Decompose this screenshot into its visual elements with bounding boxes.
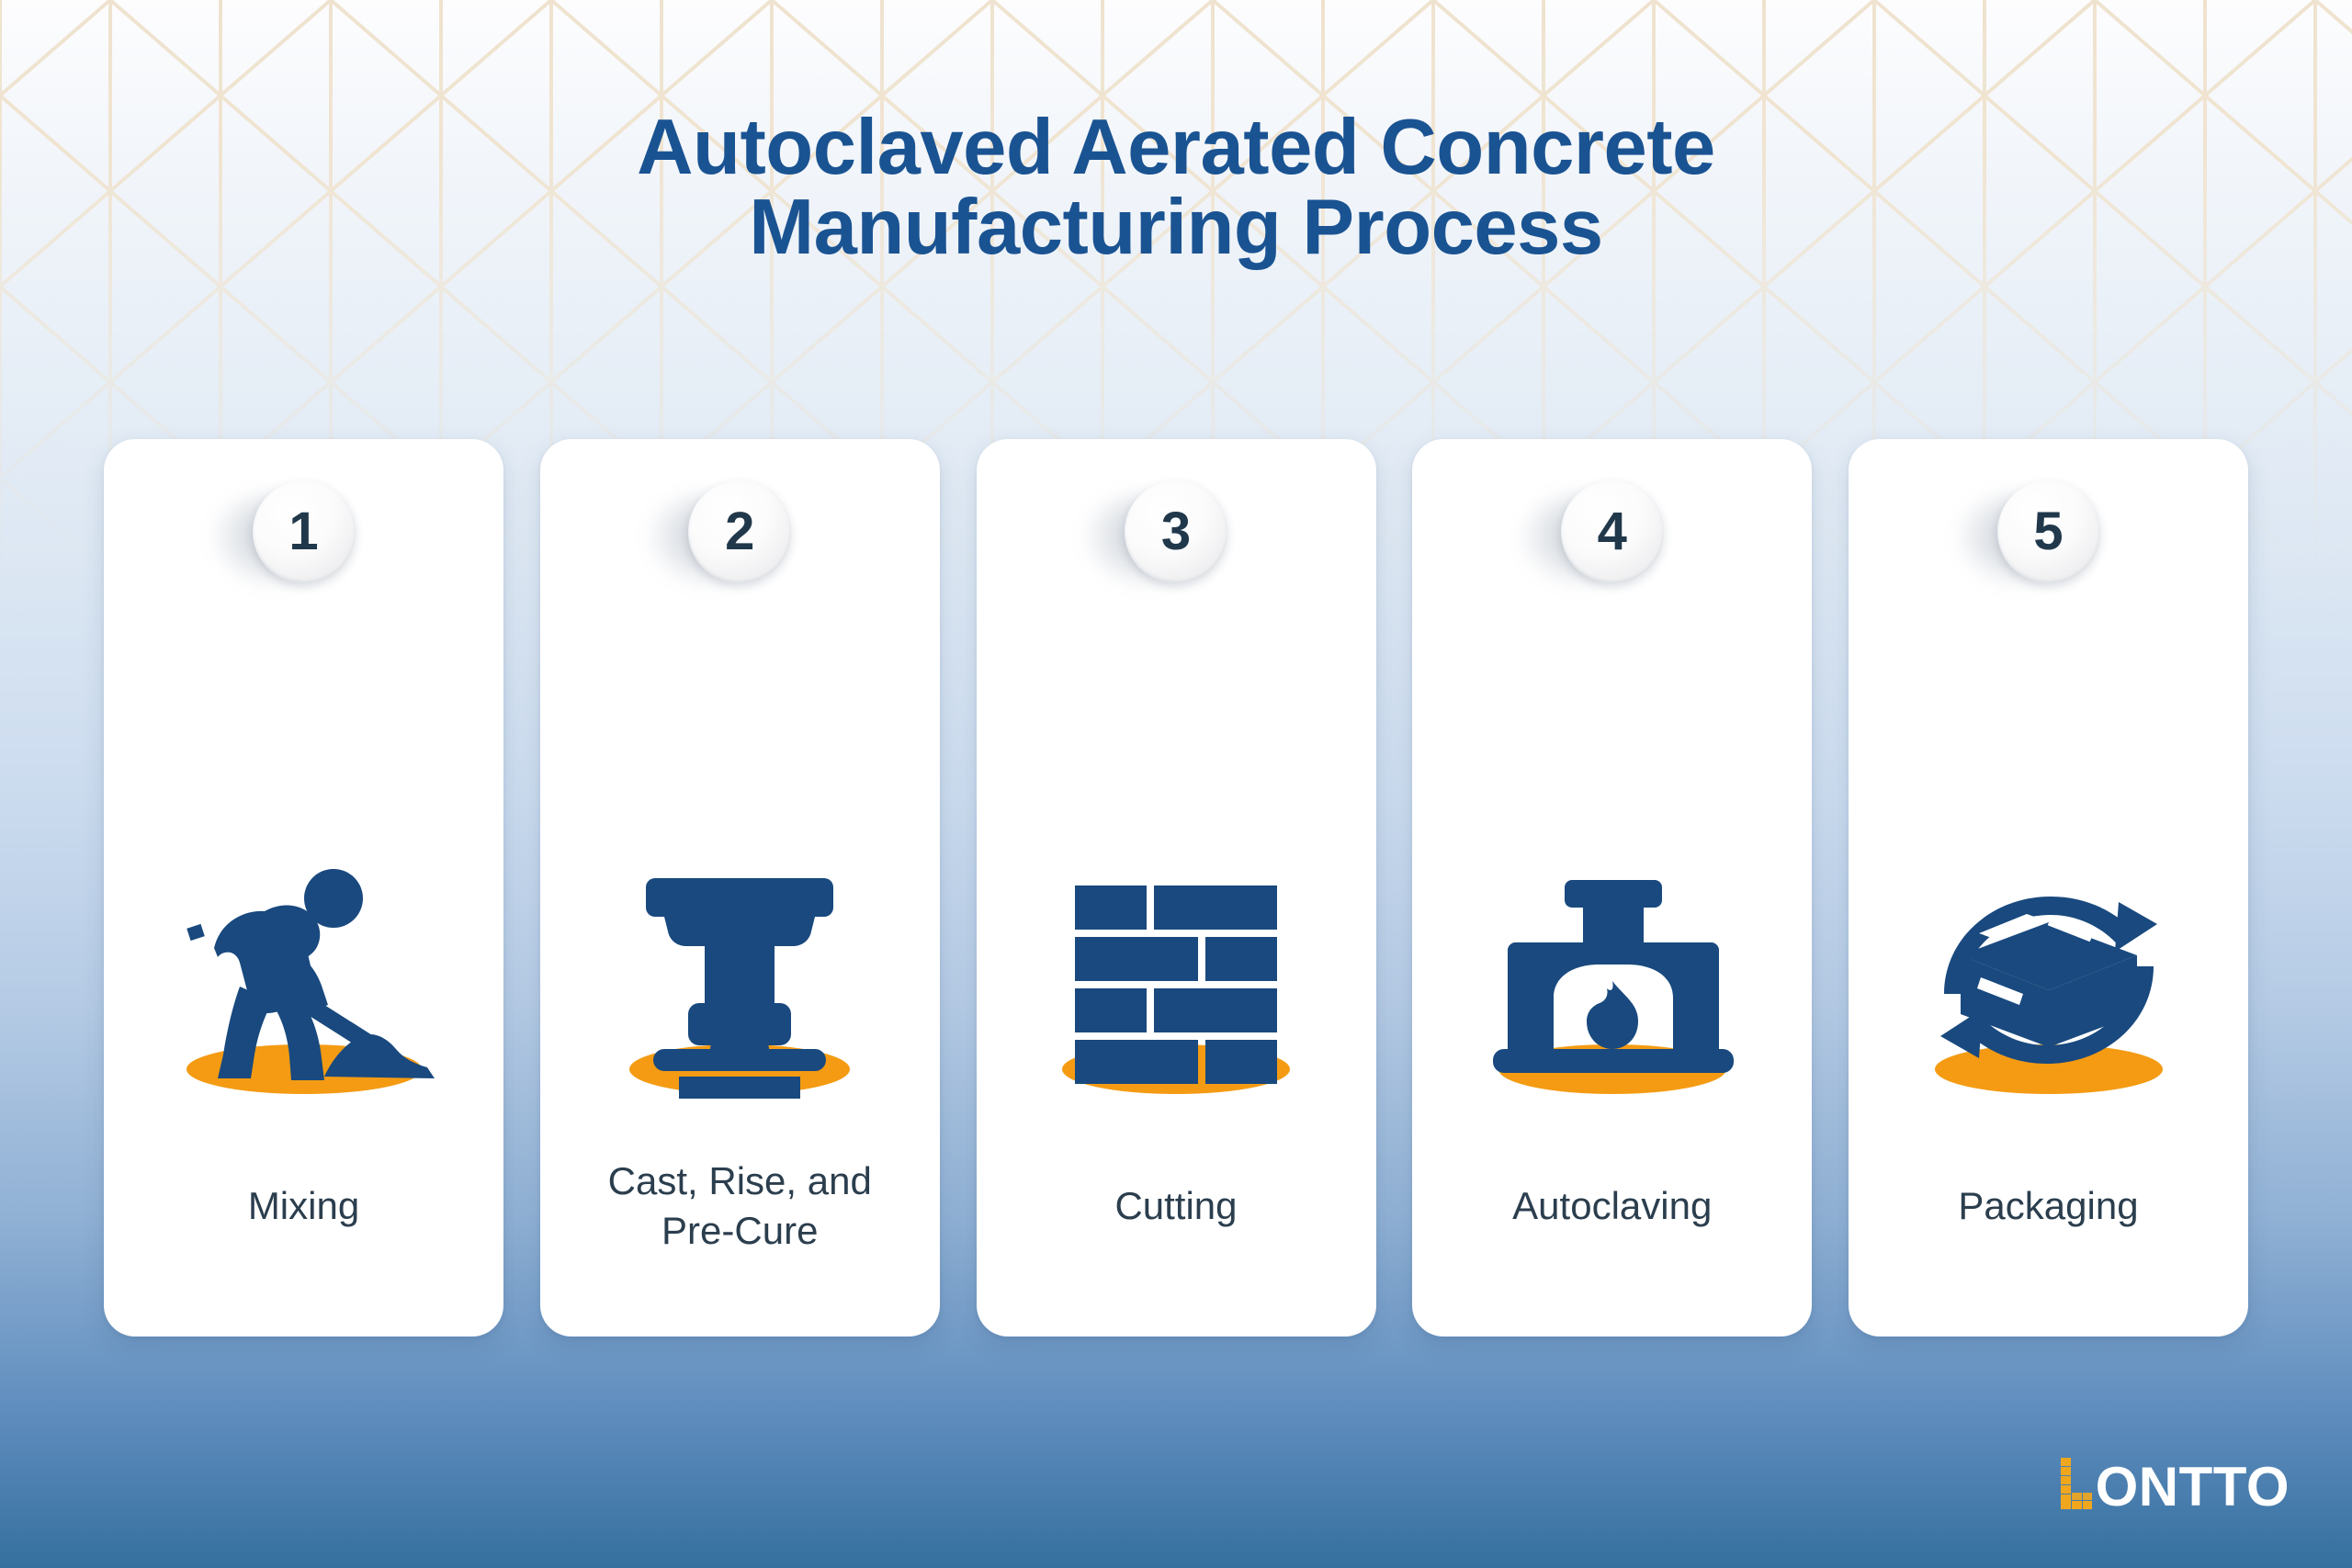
badge-number-label: 5 xyxy=(2033,505,2063,558)
badge-number-label: 2 xyxy=(725,505,754,558)
logo-brick-l-icon xyxy=(2061,1458,2092,1509)
step-card-mixing[interactable]: 1 xyxy=(104,439,503,1337)
step-number-badge: 5 xyxy=(1997,480,2100,583)
press-mold-icon xyxy=(602,860,877,1099)
box-cycle-arrows-icon xyxy=(1911,860,2187,1099)
worker-shoveling-icon xyxy=(166,860,442,1099)
badge-number-label: 1 xyxy=(288,505,318,558)
step-icon-area xyxy=(977,731,1376,1099)
badge-circle: 3 xyxy=(1125,480,1227,583)
badge-circle: 4 xyxy=(1561,480,1664,583)
badge-circle: 1 xyxy=(253,480,356,583)
page-title: Autoclaved Aerated Concrete Manufacturin… xyxy=(0,108,2352,267)
step-icon-area xyxy=(104,731,503,1099)
brick-wall-icon xyxy=(1038,860,1314,1099)
step-label-autoclaving: Autoclaving xyxy=(1432,1137,1792,1275)
step-number-badge: 3 xyxy=(1125,480,1227,583)
step-card-autoclaving[interactable]: 4 Autoclaving xyxy=(1412,439,1812,1337)
badge-circle: 2 xyxy=(688,480,791,583)
step-icon-area xyxy=(1849,731,2248,1099)
badge-number-label: 4 xyxy=(1598,505,1627,558)
step-icon-area xyxy=(1412,731,1812,1099)
badge-circle: 5 xyxy=(1997,480,2100,583)
step-card-packaging[interactable]: 5 xyxy=(1849,439,2248,1337)
brand-logo: ONTTO xyxy=(2061,1454,2290,1515)
step-number-badge: 4 xyxy=(1561,480,1664,583)
badge-number-label: 3 xyxy=(1161,505,1191,558)
step-number-badge: 1 xyxy=(253,480,356,583)
logo-wordmark: ONTTO xyxy=(2096,1460,2290,1515)
page-title-line-1: Autoclaved Aerated Concrete xyxy=(0,108,2352,188)
step-card-cast-rise-precure[interactable]: 2 Cast, Rise, and Pre-Cure xyxy=(540,439,940,1337)
step-label-cast-rise-precure: Cast, Rise, and Pre-Cure xyxy=(560,1137,920,1275)
furnace-flame-icon xyxy=(1475,860,1750,1099)
step-label-mixing: Mixing xyxy=(124,1137,483,1275)
step-card-cutting[interactable]: 3 xyxy=(977,439,1376,1337)
step-icon-area xyxy=(540,731,940,1099)
page-title-line-2: Manufacturing Process xyxy=(0,188,2352,268)
step-label-packaging: Packaging xyxy=(1869,1137,2228,1275)
step-label-cutting: Cutting xyxy=(997,1137,1356,1275)
process-steps-row: 1 xyxy=(104,439,2248,1337)
step-number-badge: 2 xyxy=(688,480,791,583)
